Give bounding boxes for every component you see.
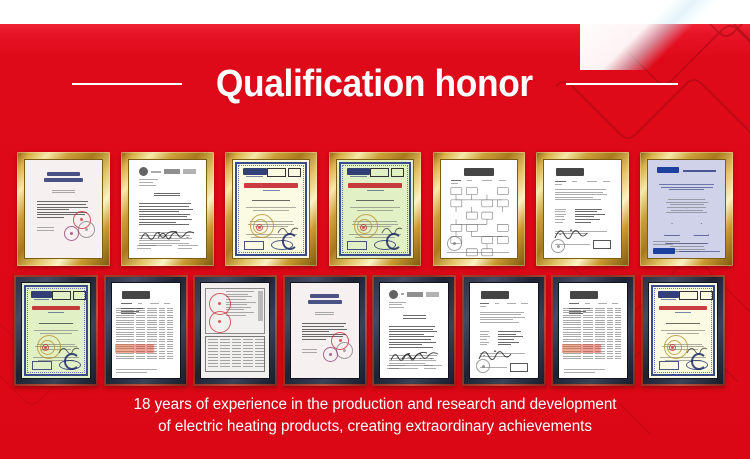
- certificate-cn-award[interactable]: [17, 152, 110, 266]
- gold-picture-frame: [121, 152, 214, 266]
- certificate-document: [559, 283, 627, 378]
- top-white-strip: [0, 0, 750, 24]
- certificate-sgs-report-2[interactable]: [462, 275, 546, 386]
- dark-picture-frame: [462, 275, 546, 386]
- certificate-sgs-table-1[interactable]: [104, 275, 188, 386]
- certificate-wsf-iso-green-2[interactable]: [14, 275, 98, 386]
- dark-picture-frame: [372, 275, 456, 386]
- certificate-vde[interactable]: [640, 152, 733, 266]
- gold-picture-frame: [17, 152, 110, 266]
- gold-picture-frame: [225, 152, 318, 266]
- dark-picture-frame: [551, 275, 635, 386]
- certificate-sgs-report[interactable]: [536, 152, 629, 266]
- frame-mat: [469, 282, 539, 379]
- certificate-document: [201, 283, 269, 378]
- dark-picture-frame: [641, 275, 725, 386]
- caption-line-1: 18 years of experience in the production…: [6, 394, 745, 416]
- certificate-document: [129, 160, 206, 258]
- caption-block: 18 years of experience in the production…: [0, 394, 750, 437]
- caption-line-2: of electric heating products, creating e…: [6, 416, 745, 438]
- frame-bevel: [16, 277, 96, 384]
- certificate-test-report-en[interactable]: [121, 152, 214, 266]
- frame-mat: [647, 159, 726, 259]
- qualification-honor-banner: Qualification honor 18 years of experien…: [0, 0, 750, 459]
- certificate-document: [380, 283, 448, 378]
- certificate-en-letter[interactable]: [372, 275, 456, 386]
- certificate-document: [291, 283, 359, 378]
- certificate-wsf-iso-cream-2[interactable]: [641, 275, 725, 386]
- frame-mat: [543, 159, 622, 259]
- gold-picture-frame: [640, 152, 733, 266]
- certificate-wsf-iso-cream[interactable]: [225, 152, 318, 266]
- certificate-document: [233, 160, 310, 258]
- dark-picture-frame: [283, 275, 367, 386]
- frame-mat: [290, 282, 360, 379]
- frame-bevel: [285, 277, 365, 384]
- gold-picture-frame: [536, 152, 629, 266]
- frame-mat: [558, 282, 628, 379]
- frame-mat: [128, 159, 207, 259]
- frame-mat: [200, 282, 270, 379]
- gold-picture-frame: [433, 152, 526, 266]
- frame-mat: [21, 282, 91, 379]
- certificate-document: [648, 160, 725, 258]
- dark-picture-frame: [14, 275, 98, 386]
- frame-mat: [648, 282, 718, 379]
- frame-bevel: [464, 277, 544, 384]
- frame-bevel: [374, 277, 454, 384]
- certificate-document: [470, 283, 538, 378]
- frame-mat: [336, 159, 415, 259]
- frame-bevel: [553, 277, 633, 384]
- certificate-document: [22, 283, 90, 378]
- certificate-wsf-iso-green[interactable]: [329, 152, 422, 266]
- title-rule-right: [566, 83, 678, 85]
- certificate-document: [337, 160, 414, 258]
- dark-picture-frame: [193, 275, 277, 386]
- frame-bevel: [643, 277, 723, 384]
- frame-bevel: [195, 277, 275, 384]
- title-rule-left: [72, 83, 182, 85]
- dark-picture-frame: [104, 275, 188, 386]
- certificate-document: [544, 160, 621, 258]
- certificate-document: [649, 283, 717, 378]
- frame-mat: [232, 159, 311, 259]
- frame-mat: [24, 159, 103, 259]
- certificate-sgs-table-2[interactable]: [551, 275, 635, 386]
- page-title: Qualification honor: [216, 65, 533, 103]
- frame-mat: [111, 282, 181, 379]
- certificate-cn-award-2[interactable]: [283, 275, 367, 386]
- gold-picture-frame: [329, 152, 422, 266]
- certificate-sgs-flowchart[interactable]: [433, 152, 526, 266]
- certificate-document: [112, 283, 180, 378]
- certificate-row-2: [14, 275, 725, 386]
- certificate-document: [25, 160, 102, 258]
- page-title-row: Qualification honor: [0, 60, 750, 108]
- frame-mat: [440, 159, 519, 259]
- frame-bevel: [106, 277, 186, 384]
- certificate-cn-stamped-form[interactable]: [193, 275, 277, 386]
- frame-mat: [379, 282, 449, 379]
- certificate-document: [441, 160, 518, 258]
- certificate-row-1: [17, 152, 733, 266]
